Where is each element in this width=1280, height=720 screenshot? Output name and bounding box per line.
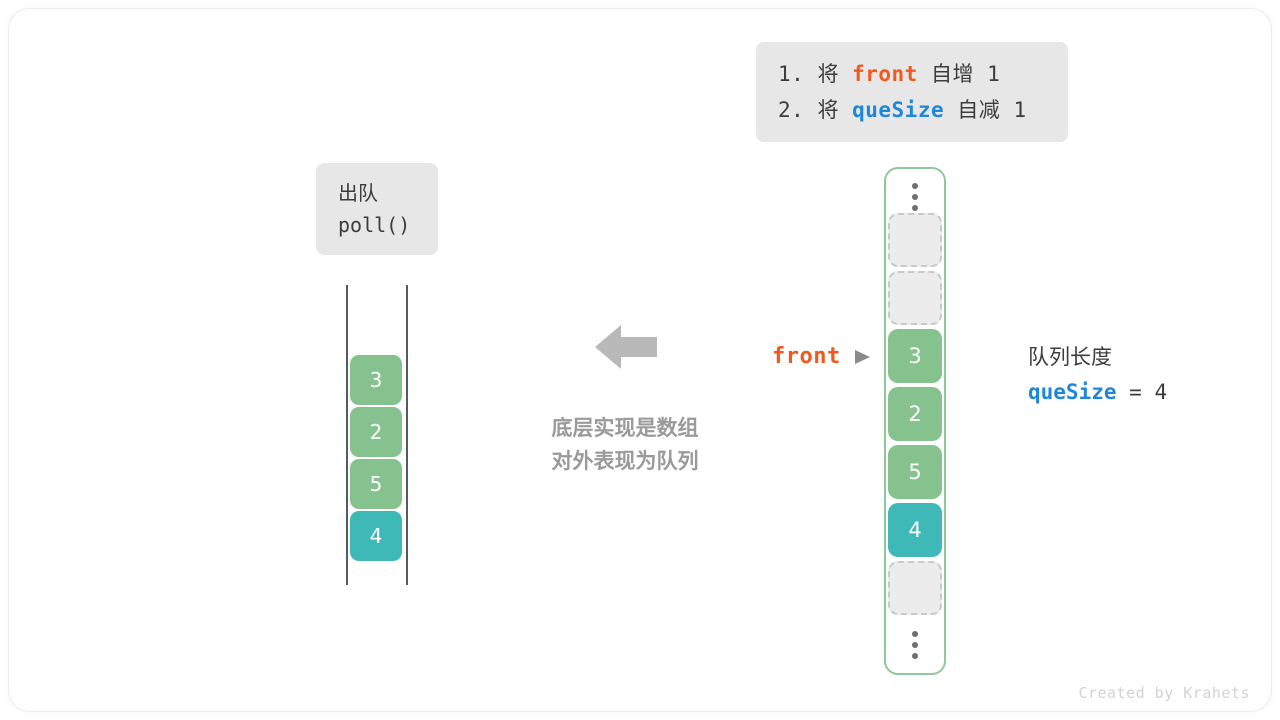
queue-cell: 4 [350,511,402,561]
step-1-variable: front [852,62,918,86]
array-cell-empty [888,213,942,267]
center-note: 底层实现是数组 对外表现为队列 [515,412,735,478]
array-cell: 3 [888,329,942,383]
step-line-2: 2. 将 queSize 自减 1 [778,92,1046,128]
queue-cell-list: 3 2 5 4 [350,355,404,563]
queue-size-equals: = [1129,380,1142,404]
queue-abstract-view: 3 2 5 4 [340,285,414,585]
dot [912,194,918,200]
vertical-ellipsis-icon [912,631,918,659]
vertical-ellipsis-icon [912,183,918,211]
dot [912,653,918,659]
queue-rail-left [346,285,348,585]
queue-size-variable: queSize [1028,380,1117,404]
array-cell-empty [888,561,942,615]
array-cell: 2 [888,387,942,441]
step-1-number: 1. [778,62,804,86]
poll-method: poll() [338,209,438,241]
poll-label-box: 出队 poll() [316,163,438,255]
queue-size-label: 队列长度 [1028,340,1258,374]
step-2-value: 1 [1013,98,1026,122]
front-pointer-label: front [772,344,841,369]
array-cell-list: 3 2 5 4 [888,213,942,619]
step-line-1: 1. 将 front 自增 1 [778,56,1046,92]
step-1-suffix: 自增 [931,62,974,86]
array-container: 3 2 5 4 [884,167,946,675]
footer-credit: Created by Krahets [1078,684,1250,702]
queue-size-note: 队列长度 queSize = 4 [1028,340,1258,410]
array-cell: 5 [888,445,942,499]
array-cell-empty [888,271,942,325]
step-2-variable: queSize [852,98,944,122]
dot [912,642,918,648]
step-1-prefix: 将 [817,62,839,86]
step-2-number: 2. [778,98,804,122]
dot [912,631,918,637]
queue-size-value: 4 [1154,380,1167,404]
triangle-right-icon [855,350,870,364]
diagram-canvas: 1. 将 front 自增 1 2. 将 queSize 自减 1 出队 pol… [0,0,1280,720]
array-cell: 4 [888,503,942,557]
queue-cell: 2 [350,407,402,457]
steps-callout-box: 1. 将 front 自增 1 2. 将 queSize 自减 1 [756,42,1068,142]
queue-cell: 5 [350,459,402,509]
center-note-line-2: 对外表现为队列 [515,445,735,478]
step-2-prefix: 将 [817,98,839,122]
queue-size-expression: queSize = 4 [1028,374,1258,410]
step-1-value: 1 [987,62,1000,86]
queue-rail-right [406,285,408,585]
center-note-line-1: 底层实现是数组 [515,412,735,445]
arrow-left-icon [595,322,657,372]
queue-cell: 3 [350,355,402,405]
step-2-suffix: 自减 [957,98,1000,122]
dot [912,183,918,189]
poll-title: 出队 [338,177,438,209]
dot [912,205,918,211]
